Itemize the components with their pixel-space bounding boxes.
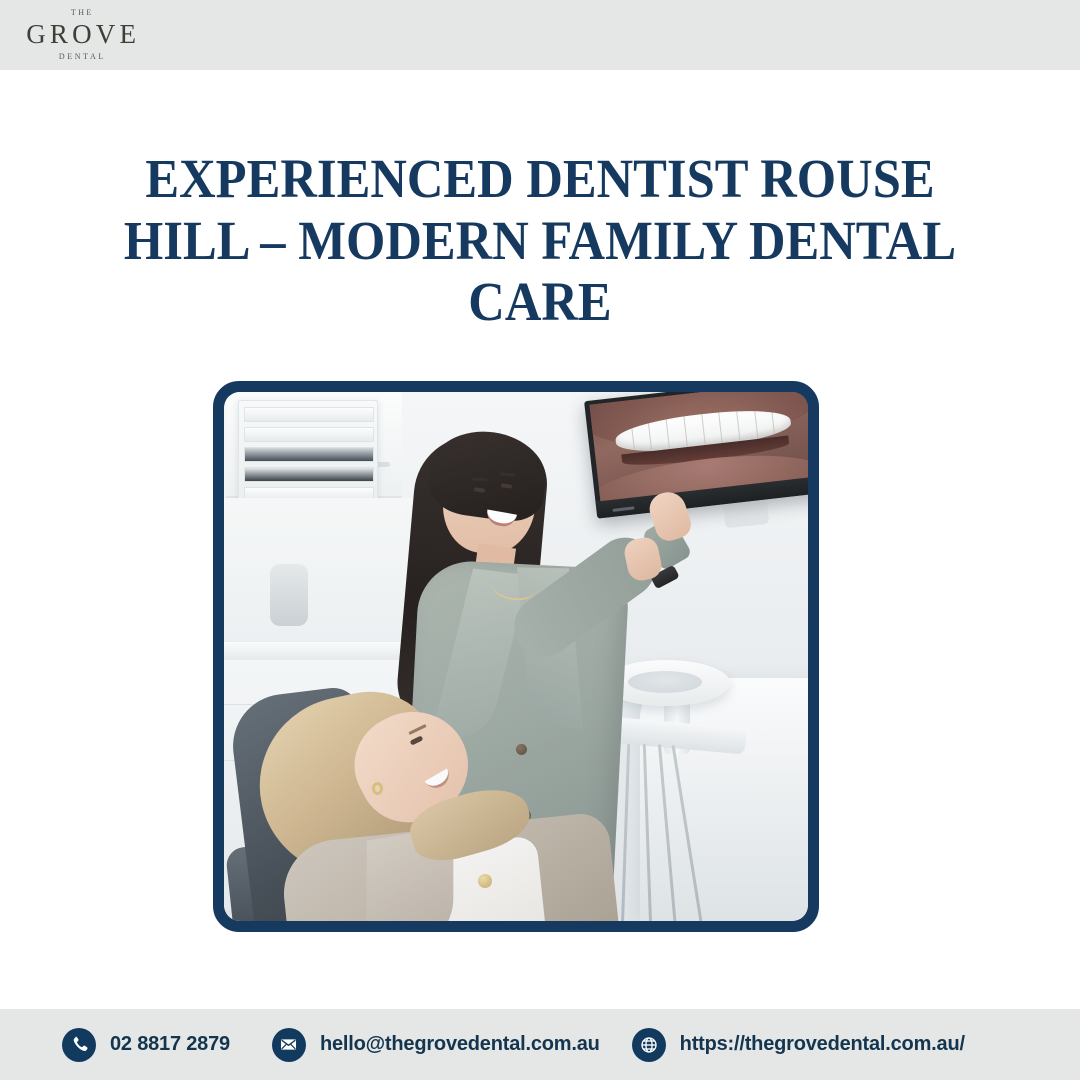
- website-url-text: https://thegrovedental.com.au/: [680, 1033, 965, 1056]
- earring: [372, 782, 383, 795]
- logo-line-grove: GROVE: [22, 21, 140, 48]
- contact-website[interactable]: https://thegrovedental.com.au/: [632, 1028, 965, 1062]
- brand-logo[interactable]: THE GROVE DENTAL: [22, 9, 140, 61]
- email-address-text: hello@thegrovedental.com.au: [320, 1033, 600, 1056]
- patient-figure: [260, 678, 620, 921]
- page-title: EXPERIENCED DENTIST ROUSE HILL – MODERN …: [94, 148, 986, 333]
- email-icon: [272, 1028, 306, 1062]
- lapel-pin: [478, 874, 492, 888]
- contact-phone[interactable]: 02 8817 2879: [62, 1028, 230, 1062]
- contact-footer-bar: 02 8817 2879 hello@thegrovedental.com.au…: [0, 1009, 1080, 1080]
- phone-icon: [62, 1028, 96, 1062]
- hero-image: [224, 392, 808, 921]
- speaker: [270, 564, 308, 626]
- phone-number-text: 02 8817 2879: [110, 1033, 230, 1056]
- globe-icon: [632, 1028, 666, 1062]
- logo-line-the: THE: [69, 9, 94, 17]
- hero-image-frame: [213, 381, 819, 932]
- header-bar: THE GROVE DENTAL: [0, 0, 1080, 70]
- logo-line-dental: DENTAL: [56, 53, 106, 61]
- contact-email[interactable]: hello@thegrovedental.com.au: [272, 1028, 600, 1062]
